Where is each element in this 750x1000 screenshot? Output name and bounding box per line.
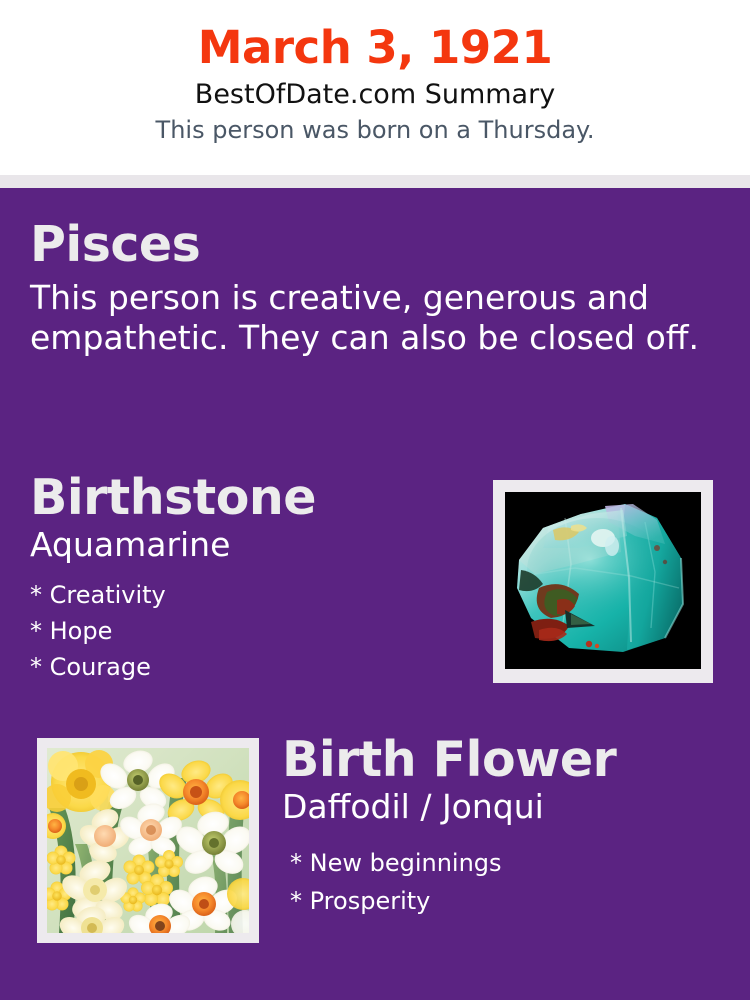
birthstone-heading: Birthstone <box>30 471 480 525</box>
birthstone-name: Aquamarine <box>30 525 480 565</box>
birth-flower-photo-frame <box>37 738 259 943</box>
list-item: * New beginnings <box>290 837 732 875</box>
birth-flower-name: Daffodil / Jonqui <box>282 787 732 827</box>
birthstone-photo-frame <box>493 480 713 683</box>
aquamarine-crystal-icon <box>505 492 701 669</box>
page-header: March 3, 1921 BestOfDate.com Summary Thi… <box>0 0 750 175</box>
zodiac-sign-heading: Pisces <box>30 218 720 272</box>
birthstone-photo <box>505 492 701 669</box>
birth-flower-photo <box>47 748 249 933</box>
page-title-date: March 3, 1921 <box>0 0 750 71</box>
weekday-note: This person was born on a Thursday. <box>0 110 750 143</box>
daffodil-flowers-icon <box>47 748 249 933</box>
list-item: * Creativity <box>30 571 480 607</box>
birth-flower-section: Birth Flower Daffodil / Jonqui * New beg… <box>282 733 732 913</box>
birthstone-trait-list: * Creativity * Hope * Courage <box>30 565 480 679</box>
birthstone-section: Birthstone Aquamarine * Creativity * Hop… <box>30 471 480 679</box>
header-divider <box>0 175 750 188</box>
list-item: * Courage <box>30 643 480 679</box>
list-item: * Prosperity <box>290 875 732 913</box>
page-root: March 3, 1921 BestOfDate.com Summary Thi… <box>0 0 750 1000</box>
zodiac-section: Pisces This person is creative, generous… <box>30 218 720 358</box>
site-name-subtitle: BestOfDate.com Summary <box>0 71 750 110</box>
list-item: * Hope <box>30 607 480 643</box>
zodiac-description: This person is creative, generous and em… <box>30 272 705 359</box>
birth-flower-trait-list: * New beginnings * Prosperity <box>282 827 732 913</box>
birth-flower-heading: Birth Flower <box>282 733 732 787</box>
